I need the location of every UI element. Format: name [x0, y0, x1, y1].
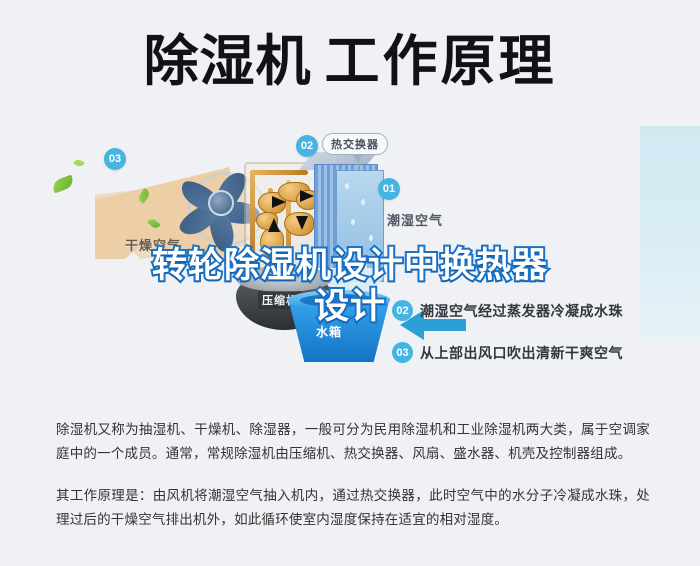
flow-arrow-right-icon [272, 196, 286, 208]
condensation-drop-icon [345, 183, 349, 189]
condensation-drop-icon [361, 199, 365, 205]
flow-arrow-up-icon [268, 218, 280, 232]
leaf-icon [51, 175, 76, 194]
article-body: 除湿机又称为抽湿机、干燥机、除湿器，一般可分为民用除湿机和工业除湿机两大类，属于… [56, 418, 650, 550]
title-part-2: 工作原理 [325, 30, 557, 92]
heat-exchanger-face [336, 170, 384, 282]
step-text: 潮湿空气经过蒸发器冷凝成水珠 [420, 301, 623, 321]
page-root: 除湿机工作原理 干燥空气 [0, 0, 700, 566]
condensation-drop-icon [351, 219, 355, 225]
title-text: 除湿机工作原理 [143, 30, 556, 92]
diagram-badge-02: 02 [296, 135, 318, 157]
compressor-drum-top [236, 266, 332, 292]
step-badge: 03 [392, 342, 413, 363]
title-part-1: 除湿机 [143, 30, 311, 92]
leaf-icon [73, 158, 85, 168]
body-paragraph-1: 除湿机又称为抽湿机、干燥机、除湿器，一般可分为民用除湿机和工业除湿机两大类，属于… [56, 418, 650, 466]
step-list: 02 潮湿空气经过蒸发器冷凝成水珠 03 从上部出风口吹出清新干爽空气 [392, 300, 692, 384]
diagram-badge-01: 01 [378, 178, 400, 200]
water-tank-inner [300, 294, 378, 307]
fan-hub [208, 190, 234, 216]
refrigerant-pipe [250, 170, 308, 175]
step-item: 02 潮湿空气经过蒸发器冷凝成水珠 [392, 300, 692, 321]
flow-arrow-right-icon [300, 190, 314, 202]
flow-arrow-down-icon [296, 216, 308, 230]
diagram-badge-03: 03 [104, 148, 126, 170]
water-tank-label: 水箱 [316, 323, 342, 340]
humid-air-label: 潮湿空气 [387, 210, 443, 229]
step-text: 从上部出风口吹出清新干爽空气 [420, 343, 623, 363]
copper-coil [260, 228, 284, 258]
dry-air-label: 干燥空气 [125, 235, 181, 254]
body-paragraph-2: 其工作原理是：由风机将潮湿空气抽入机内，通过热交换器，此时空气中的水分子冷凝成水… [56, 484, 650, 532]
heat-exchanger-callout: 热交换器 [322, 133, 388, 155]
refrigerant-pipe [250, 170, 255, 266]
step-badge: 02 [392, 300, 413, 321]
step-item: 03 从上部出风口吹出清新干爽空气 [392, 342, 692, 363]
condensation-drop-icon [343, 249, 347, 255]
page-title: 除湿机工作原理 [0, 26, 700, 96]
condensation-drop-icon [369, 235, 373, 241]
callout-pointer-line [357, 162, 359, 170]
